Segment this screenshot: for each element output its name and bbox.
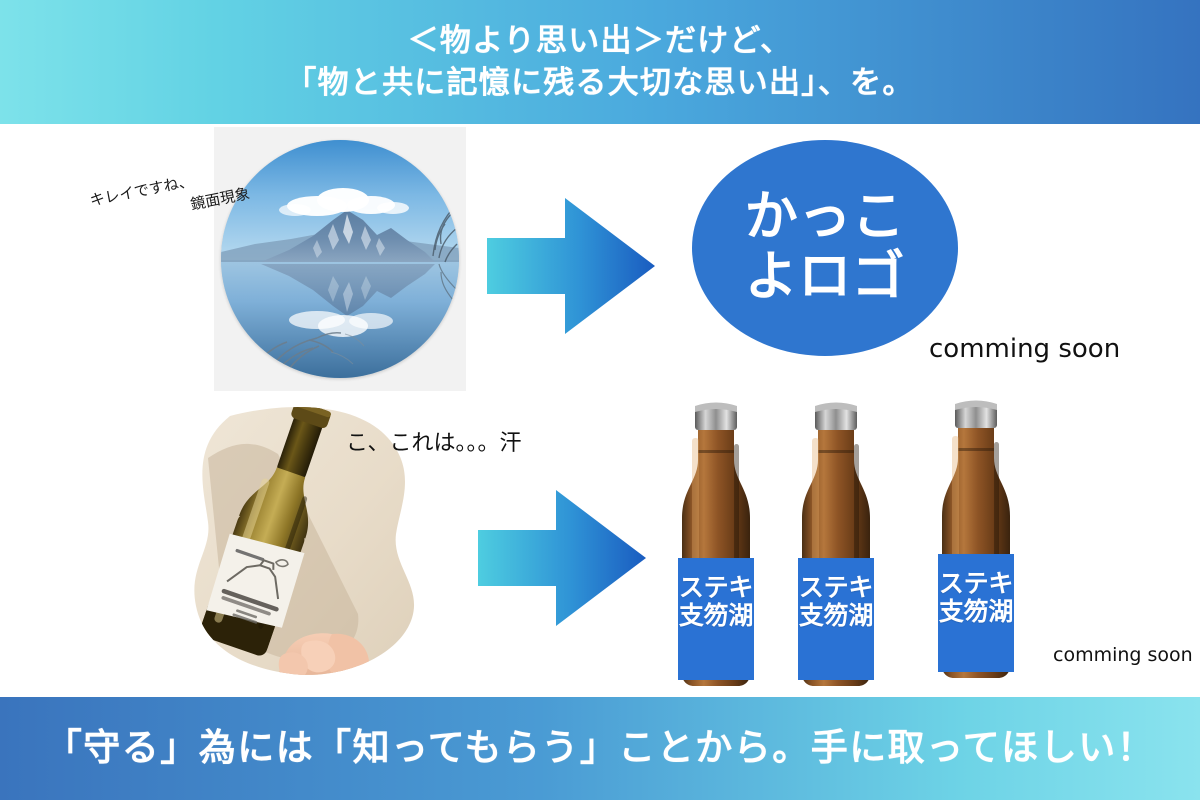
- mockup-bottle-2: ステキ 支笏湖: [788, 398, 884, 688]
- logo-placeholder-circle: かっこ よロゴ: [692, 140, 958, 356]
- coming-soon-label-logo: comming soon: [929, 334, 1120, 364]
- bottom-banner: 「守る」為には「知ってもらう」ことから。手に取ってほしい！: [0, 697, 1200, 800]
- top-banner: ＜物より思い出＞だけど、 「物と共に記憶に残る大切な思い出」、を。: [0, 0, 1200, 124]
- logo-line-2: よロゴ: [745, 247, 906, 307]
- logo-line-1: かっこ: [745, 187, 906, 247]
- mockup-bottle-1: ステキ 支笏湖: [668, 398, 764, 688]
- top-banner-line-1: ＜物より思い出＞だけど、: [408, 20, 793, 62]
- right-arrow-icon-bottom: [478, 488, 648, 628]
- top-banner-line-2: 「物と共に記憶に残る大切な思い出」、を。: [285, 62, 914, 104]
- right-arrow-icon-top: [487, 196, 657, 336]
- lake-scene-illustration: [221, 140, 459, 378]
- mockup-bottle-3: ステキ 支笏湖: [928, 398, 1024, 688]
- lake-photo-frame: [214, 127, 466, 391]
- coming-soon-label-bottles: comming soon: [1053, 644, 1193, 666]
- bottle-annotation: こ、これは。。。汗: [346, 425, 522, 457]
- bottom-banner-line-1: 「守る」為には「知ってもらう」ことから。手に取ってほしい！: [45, 726, 1155, 770]
- lake-photo-circular-image: [221, 140, 459, 378]
- poster-canvas: ＜物より思い出＞だけど、 「物と共に記憶に残る大切な思い出」、を。: [0, 0, 1200, 800]
